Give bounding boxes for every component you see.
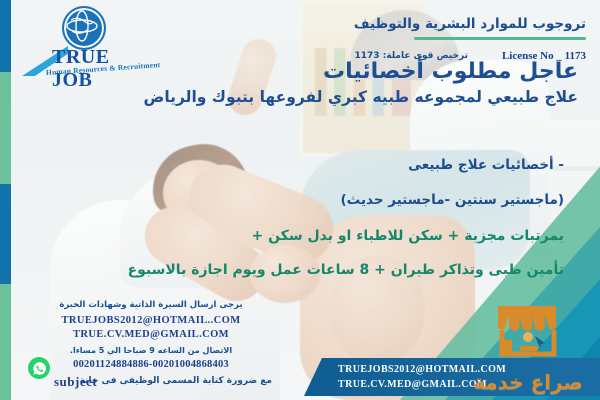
company-block: تروجوب للموارد البشرية والتوظيف [326,16,586,40]
headline-block: عاجل مطلوب أخصائيات علاج طبيعي لمجموعه ط… [78,58,578,107]
contact-email-2[interactable]: TRUE.CV.MED@GMAIL.COM [26,328,276,342]
storefront-icon [490,302,564,360]
contact-phones[interactable]: 00201124884886-00201004868403 [26,359,276,370]
calling-hours: الاتصال من الساعه 9 صباحا الي 5 مساءا. [26,346,276,355]
headline-line-2: علاج طبيعي لمجموعه طبيه كبري لفروعها بتب… [78,87,578,108]
subject-keyword: subject [54,374,97,390]
stripe-segment-green-2 [0,284,11,400]
requirement-line-1: - أخصائيات علاج طبيعى [408,157,564,173]
requirement-line-2: (ماجستير سنتين -ماجستير حديث) [340,192,564,208]
subject-instruction-row: مع ضرورة كتابة المسمى الوظيفى فى خانة su… [26,375,276,389]
stripe-segment-blue-1 [0,0,11,72]
contact-email-1[interactable]: TRUEJOBS2012@HOTMAIL..COM [26,314,276,328]
benefit-line-1: بمرتبات مجزية + سكن للاطباء او بدل سكن + [251,228,564,244]
benefit-line-2: تأمين طبى وتذاكر طيران + 8 ساعات عمل ويو… [128,262,564,278]
company-name: تروجوب للموارد البشرية والتوظيف [326,16,586,32]
globe-icon [62,6,106,50]
stripe-segment-green-1 [0,72,11,184]
watermark-logo: صراع خدمة [472,302,584,394]
recruitment-poster: TRUE JOB Human Resources & Recruitment ت… [0,0,600,400]
left-color-stripe [0,0,11,400]
stripe-segment-blue-2 [0,184,11,284]
phone-numbers: 00201124884886-00201004868403 [73,359,229,370]
headline-line-1: عاجل مطلوب أخصائيات [78,58,578,86]
send-cv-instruction: يرجى ارسال السيرة الذاتية وشهادات الخبرة [26,300,276,310]
contact-block: يرجى ارسال السيرة الذاتية وشهادات الخبرة… [26,300,276,389]
subject-note: مع ضرورة كتابة المسمى الوظيفى فى خانة [80,376,272,386]
watermark-text: صراع خدمة [472,370,584,394]
company-underline [414,37,586,40]
